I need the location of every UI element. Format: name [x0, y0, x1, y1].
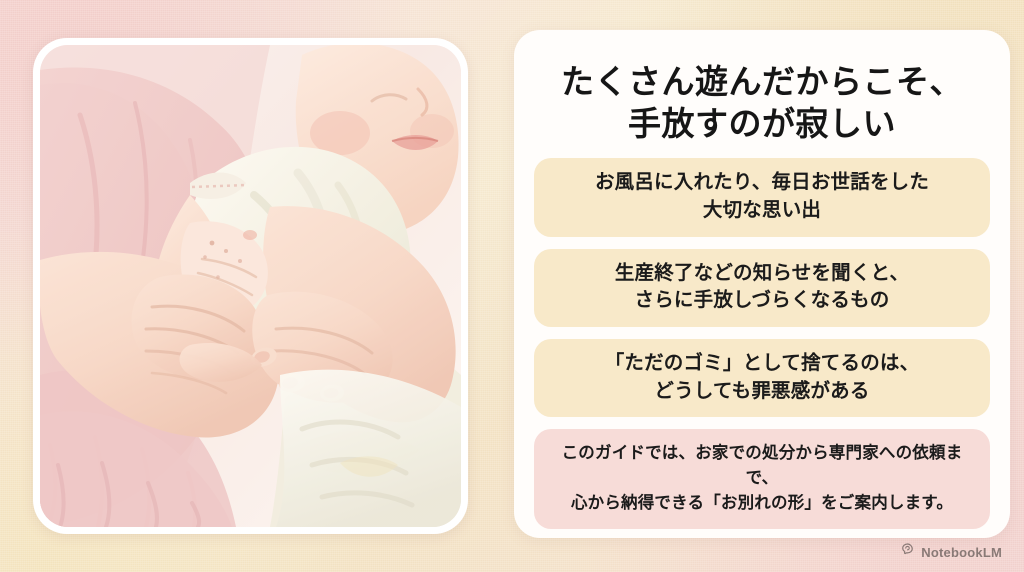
- illustration-image: [40, 45, 461, 527]
- point-item-2: 生産終了などの知らせを聞くと、 さらに手放しづらくなるもの: [534, 249, 990, 327]
- slide-headline: たくさん遊んだからこそ、 手放すのが寂しい: [534, 61, 990, 144]
- notebooklm-logo-icon: [900, 542, 915, 562]
- point-item-1: お風呂に入れたり、毎日お世話をした 大切な思い出: [534, 158, 990, 236]
- footer-note: このガイドでは、お家での処分から専門家への依頼まで、 心から納得できる「お別れの…: [534, 429, 990, 528]
- point-item-3: 「ただのゴミ」として捨てるのは、 どうしても罪悪感がある: [534, 339, 990, 417]
- watermark: NotebookLM: [900, 542, 1002, 562]
- slide-canvas: たくさん遊んだからこそ、 手放すのが寂しい お風呂に入れたり、毎日お世話をした …: [0, 0, 1024, 572]
- illustration-card: [33, 38, 468, 534]
- content-panel: たくさん遊んだからこそ、 手放すのが寂しい お風呂に入れたり、毎日お世話をした …: [514, 30, 1010, 538]
- watermark-label: NotebookLM: [921, 545, 1002, 560]
